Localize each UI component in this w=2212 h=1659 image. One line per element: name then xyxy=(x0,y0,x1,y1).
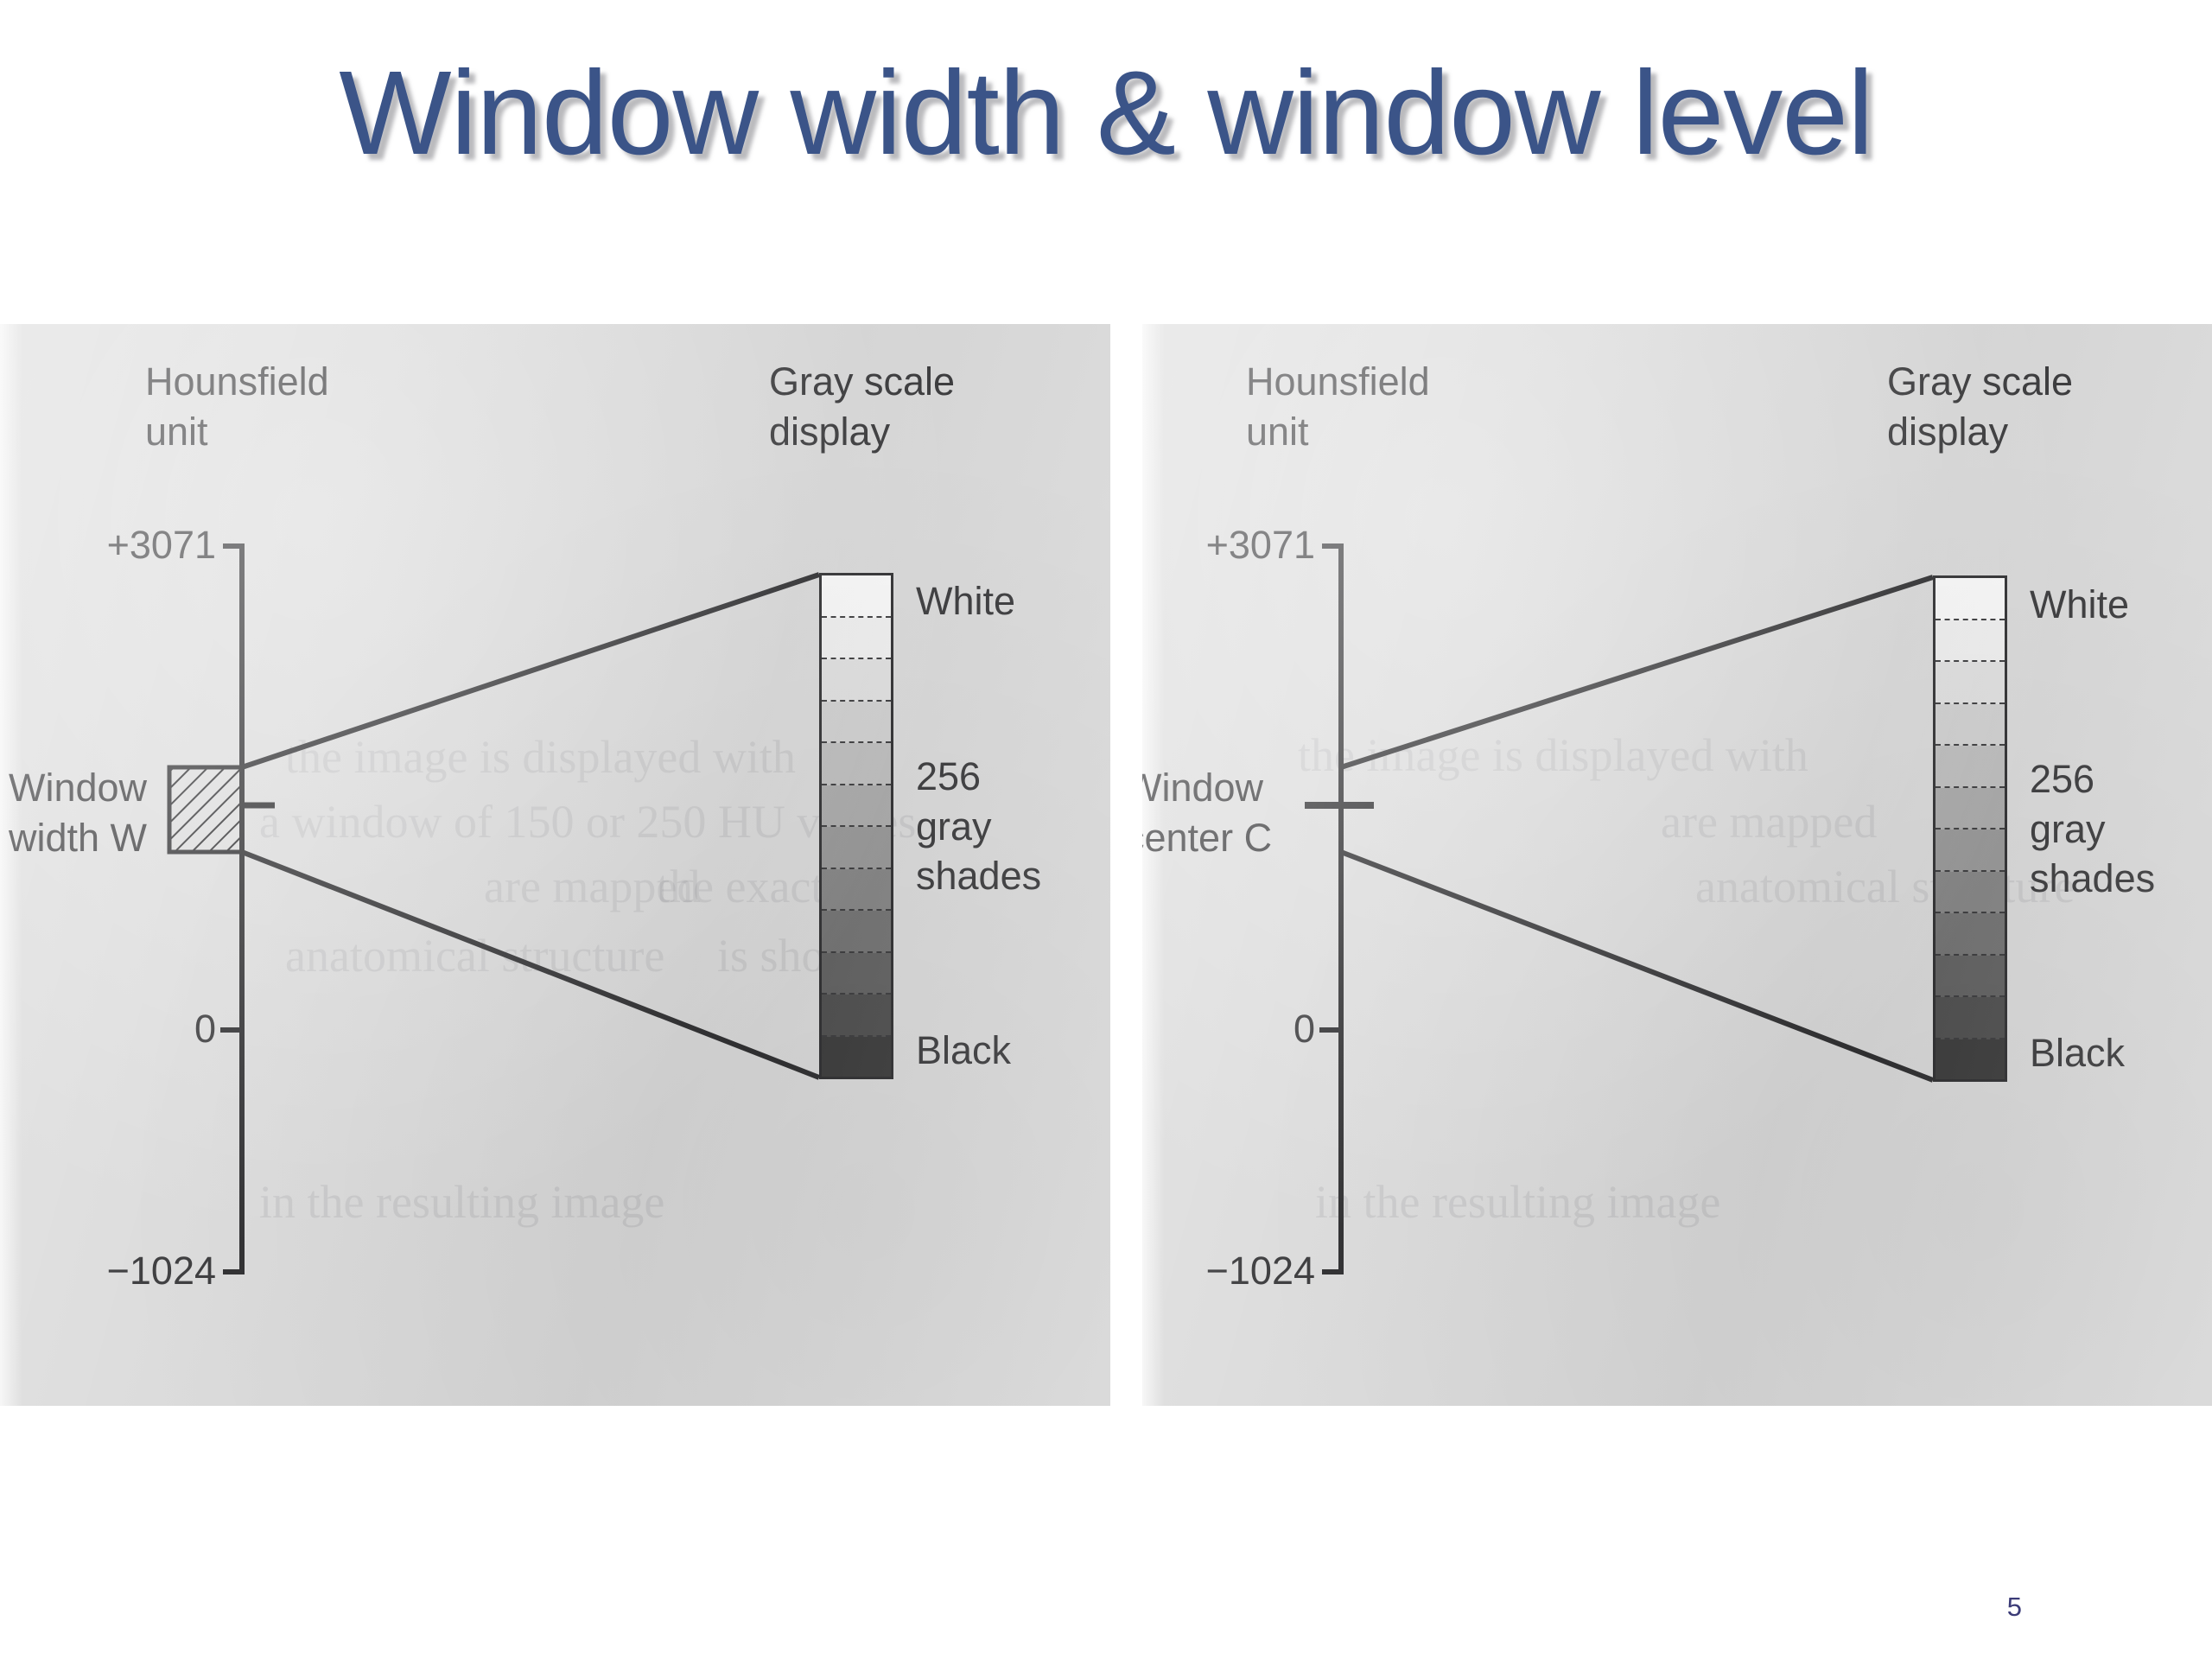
gray-scale-label-white: White xyxy=(2030,580,2129,630)
gray-scale-label-shades: 256 gray shades xyxy=(2030,754,2155,904)
page-title: Window width & window level xyxy=(0,45,2212,182)
gray-band xyxy=(1935,913,2005,956)
axis-title-hounsfield-unit: Hounsfield unit xyxy=(145,357,329,456)
gray-band xyxy=(822,869,891,912)
axis-tick-label-3071: +3071 xyxy=(1142,520,1315,570)
gray-band xyxy=(822,575,891,618)
axis-tick-label-3071: +3071 xyxy=(0,520,216,570)
gray-scale-bar-right xyxy=(1933,575,2007,1082)
gray-band xyxy=(822,953,891,995)
axis-tick-label-0: 0 xyxy=(0,1004,216,1054)
gray-band xyxy=(1935,1039,2005,1080)
gray-band xyxy=(1935,788,2005,830)
window-center-label: Window center C xyxy=(1142,763,1272,862)
gray-band xyxy=(822,702,891,744)
axis-tick-label-0: 0 xyxy=(1142,1004,1315,1054)
gray-band xyxy=(1935,872,2005,914)
gray-band xyxy=(1935,997,2005,1039)
diagram-panel-window-center: the image is displayed with are mapped a… xyxy=(1142,324,2212,1406)
gray-band xyxy=(822,827,891,869)
figure-area: the image is displayed with a window of … xyxy=(0,324,2212,1408)
diagram-panel-window-width: the image is displayed with a window of … xyxy=(0,324,1110,1406)
gray-scale-label-black: Black xyxy=(2030,1028,2125,1078)
axis-tick-label-minus-1024: −1024 xyxy=(1142,1246,1315,1296)
page-number: 5 xyxy=(2007,1592,2022,1623)
gray-band xyxy=(822,618,891,660)
gray-scale-label-black: Black xyxy=(916,1026,1011,1076)
gray-band xyxy=(822,659,891,702)
gray-scale-label-shades: 256 gray shades xyxy=(916,752,1041,901)
display-title-gray-scale: Gray scale display xyxy=(769,357,955,456)
display-title-gray-scale: Gray scale display xyxy=(1887,357,2073,456)
gray-band xyxy=(822,1037,891,1077)
gray-band xyxy=(822,743,891,785)
gray-band xyxy=(1935,578,2005,620)
gray-scale-bar-left xyxy=(819,573,893,1079)
gray-band xyxy=(1935,662,2005,704)
gray-band xyxy=(1935,620,2005,663)
gray-band xyxy=(822,995,891,1037)
gray-band xyxy=(1935,746,2005,788)
gray-scale-label-white: White xyxy=(916,576,1015,626)
gray-band xyxy=(1935,704,2005,747)
axis-tick-label-minus-1024: −1024 xyxy=(0,1246,216,1296)
gray-band xyxy=(822,785,891,828)
axis-title-hounsfield-unit: Hounsfield unit xyxy=(1246,357,1430,456)
gray-band xyxy=(1935,956,2005,998)
gray-band xyxy=(822,911,891,953)
gray-band xyxy=(1935,829,2005,872)
window-width-label: Window width W xyxy=(9,763,147,862)
